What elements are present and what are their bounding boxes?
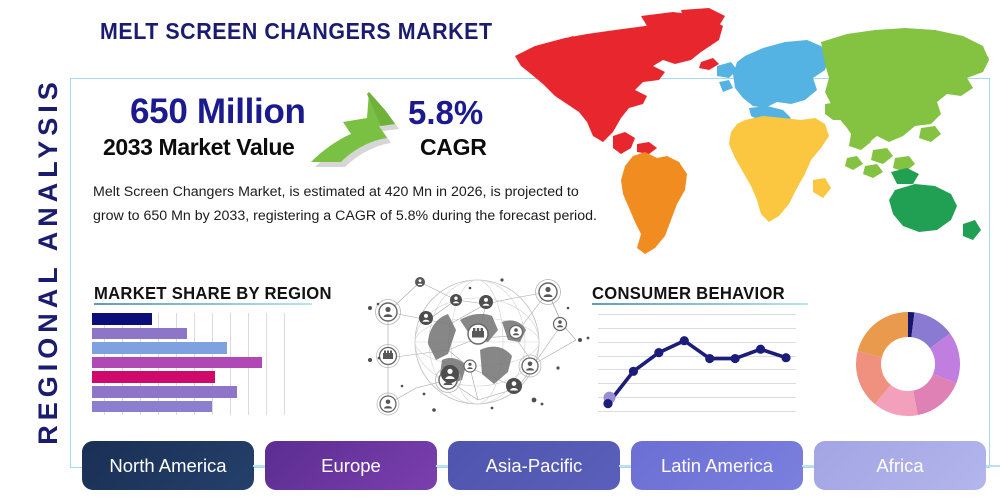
region-connector [436, 465, 448, 467]
bar-chart-bar [92, 386, 237, 398]
region-button-latin-america[interactable]: Latin America [631, 441, 803, 490]
region-button-africa[interactable]: Africa [814, 441, 986, 490]
bar-chart-bar [92, 342, 227, 354]
world-map-icon [495, 8, 995, 270]
infographic-canvas: REGIONAL ANALYSIS MELT SCREEN CHANGERS M… [0, 0, 1000, 500]
cagr-number: 5.8% [408, 94, 483, 132]
region-button-north-america[interactable]: North America [82, 441, 254, 490]
market-description: Melt Screen Changers Market, is estimate… [93, 180, 603, 228]
bar-chart-bar [92, 313, 152, 325]
market-share-bar-chart [92, 313, 292, 415]
region-button-europe[interactable]: Europe [265, 441, 437, 490]
region-nav: North AmericaEuropeAsia-PacificLatin Ame… [82, 441, 990, 491]
line-data-point [731, 354, 740, 363]
kpi-summary: 650 Million 2033 Market Value 5.8% CAGR [103, 92, 523, 170]
globe-network-icon [362, 268, 592, 426]
consumer-behavior-line-chart [598, 310, 796, 415]
line-data-point [680, 336, 689, 345]
cagr-label: CAGR [420, 134, 487, 161]
vertical-section-label: REGIONAL ANALYSIS [25, 51, 71, 471]
region-connector [802, 465, 814, 467]
line-data-point [781, 353, 790, 362]
market-share-underline [94, 303, 312, 305]
region-connector-end [986, 465, 1000, 467]
consumer-behavior-donut-chart [852, 308, 964, 420]
donut-segment [858, 312, 908, 357]
bar-chart-bar [92, 401, 212, 413]
consumer-behavior-heading: CONSUMER BEHAVIOR [592, 283, 785, 304]
bar-gridline [284, 313, 285, 415]
bar-gridline [266, 313, 267, 415]
line-data-point [629, 367, 638, 376]
market-value-label: 2033 Market Value [103, 134, 294, 161]
line-data-point [756, 345, 765, 354]
region-connector [253, 465, 265, 467]
bar-chart-bar [92, 328, 187, 340]
region-connector [619, 465, 631, 467]
growth-arrow-icon [307, 84, 407, 174]
region-button-asia-pacific[interactable]: Asia-Pacific [448, 441, 620, 490]
line-data-point [654, 348, 663, 357]
line-data-point [603, 399, 612, 408]
market-value-number: 650 Million [130, 92, 306, 132]
consumer-behavior-underline [592, 303, 808, 305]
bar-chart-bar [92, 371, 215, 383]
bar-chart-bar [92, 357, 262, 369]
line-data-point [705, 354, 714, 363]
page-title: MELT SCREEN CHANGERS MARKET [100, 18, 493, 45]
market-share-heading: MARKET SHARE BY REGION [94, 283, 332, 304]
